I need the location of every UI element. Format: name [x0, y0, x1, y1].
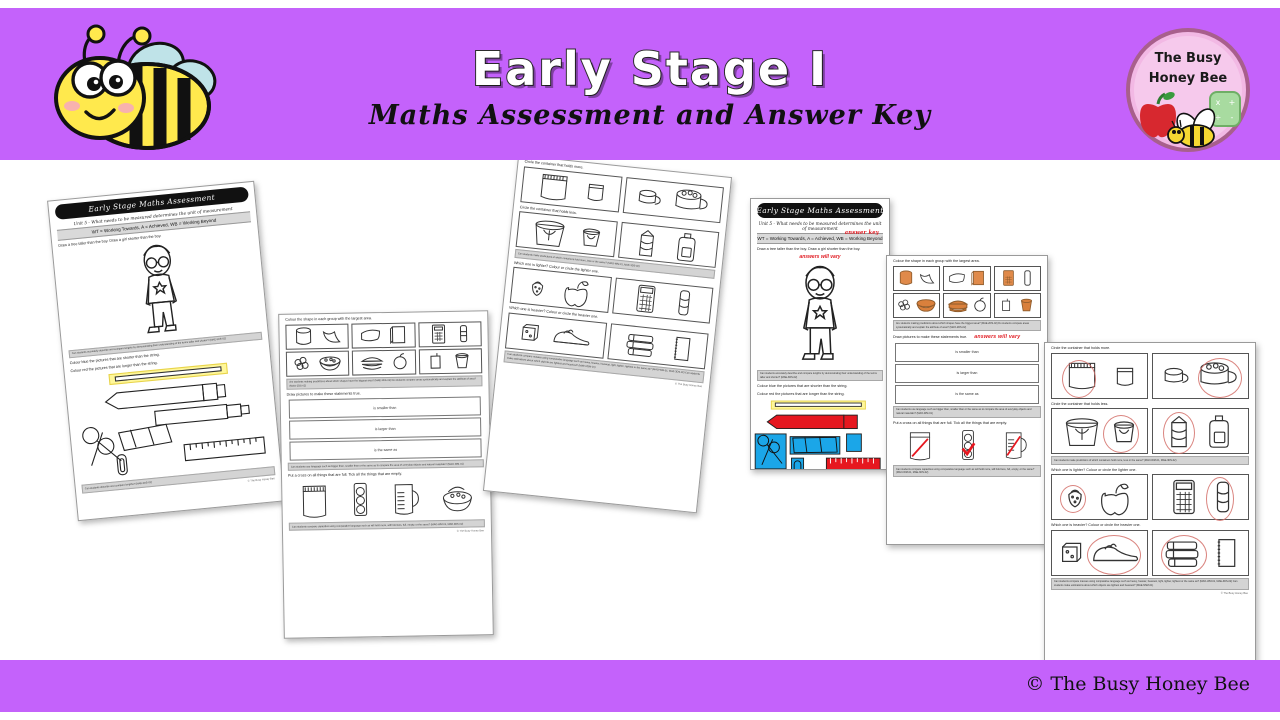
- copyright-text: © The Busy Honey Bee: [1025, 673, 1250, 695]
- juice-box-icon: [1001, 297, 1012, 313]
- logo-line2: Honey Bee: [1149, 71, 1228, 86]
- answer-key-page-1[interactable]: Early Stage Maths Assessment Unit 5 - Wh…: [750, 198, 890, 470]
- small-tub-icon: [579, 225, 603, 249]
- pillow-icon: [948, 269, 966, 287]
- large-mug-icon: [673, 185, 710, 218]
- jar-icon[interactable]: [298, 480, 331, 521]
- area-grid-row1: [285, 321, 481, 349]
- calculator-icon: [633, 283, 658, 315]
- criteria-1: Can students accurately describe and com…: [757, 370, 883, 382]
- crayon-icon-red: [767, 415, 857, 428]
- bucket-icon: [453, 352, 471, 370]
- criteria-4: Can students use language such as bigger…: [288, 459, 484, 471]
- page-title: Early Stage I: [472, 45, 828, 93]
- poster-canvas: Early Stage I Maths Assessment and Answe…: [0, 0, 1280, 720]
- popcorn-icon: [897, 297, 912, 313]
- area-cell[interactable]: [285, 323, 349, 349]
- measuring-jug-icon[interactable]: [390, 478, 421, 519]
- pen-icon-blue: [847, 434, 862, 451]
- criteria-5: Can students compare capacities using co…: [893, 465, 1041, 477]
- sheet-banner: Early Stage Maths Assessment: [757, 203, 883, 218]
- area-cell[interactable]: [418, 348, 482, 374]
- holds-less-pair[interactable]: [1051, 408, 1148, 454]
- criteria-7: Can students compare masses using compar…: [1051, 578, 1249, 590]
- criteria-3: Are students making predictions about wh…: [893, 320, 1041, 332]
- answer-key-page-2[interactable]: Colour the shape in each group with the …: [886, 255, 1048, 545]
- small-mug-icon: [1163, 364, 1189, 388]
- tube-icon-ticked[interactable]: [959, 427, 977, 463]
- holds-more-pair[interactable]: [520, 166, 622, 212]
- area-cell[interactable]: [286, 350, 350, 376]
- cereal-bowl-icon-coloured: [915, 297, 937, 313]
- criteria-6: Can students make predictions of which c…: [1051, 456, 1249, 464]
- tube-icon[interactable]: [350, 479, 371, 519]
- unit-line: Unit 5 - What needs to be measured deter…: [757, 220, 883, 233]
- shoe-icon: [551, 323, 593, 351]
- milk-jug-icon: [1204, 413, 1234, 449]
- criteria-3: Are students making predictions about wh…: [286, 375, 482, 390]
- answer-circle: [1198, 358, 1242, 398]
- worksheet-page-2[interactable]: Colour the shape in each group with the …: [278, 310, 494, 639]
- area-cell[interactable]: [943, 266, 990, 291]
- statement-smaller[interactable]: is smaller than: [895, 343, 1039, 362]
- pen-icon: [155, 403, 250, 426]
- statement-smaller[interactable]: is smaller than: [289, 396, 481, 418]
- worksheet-page-1[interactable]: Early Stage Maths Assessment Unit 5 - Wh…: [47, 181, 285, 521]
- apple-icon: [1098, 479, 1134, 515]
- cereal-bowl-icon: [318, 354, 342, 372]
- milk-jug-icon: [672, 231, 701, 264]
- question-7: Circle the container that holds less.: [1051, 402, 1249, 407]
- boy-figure-icon: [792, 263, 848, 367]
- statement-same[interactable]: is the same as: [895, 385, 1039, 404]
- worksheet-page-3[interactable]: Circle the container that holds more. Ci…: [483, 160, 732, 513]
- page-subtitle: Maths Assessment and Answer Key: [369, 100, 931, 131]
- area-cell[interactable]: [994, 266, 1041, 291]
- statement-larger[interactable]: is larger than: [289, 417, 481, 439]
- header-banner: Early Stage I Maths Assessment and Answe…: [0, 8, 1280, 160]
- boy-figure-icon: [130, 240, 191, 341]
- area-cell[interactable]: [352, 322, 416, 348]
- notebook-icon: [669, 334, 692, 364]
- area-cell[interactable]: [893, 293, 940, 318]
- statement-larger[interactable]: is larger than: [895, 364, 1039, 383]
- ruler-icon-red: [826, 458, 880, 470]
- area-cell[interactable]: [418, 321, 482, 347]
- footer-banner: © The Busy Honey Bee: [0, 660, 1280, 712]
- logo-badge: The Busy Honey Bee x+ ÷-: [1124, 26, 1252, 154]
- question-4-text: Draw pictures to make these statements t…: [893, 335, 967, 339]
- lighter-grid-answers: [1051, 474, 1249, 520]
- holds-more-pair[interactable]: [622, 177, 724, 223]
- statement-label: is smaller than: [373, 405, 396, 409]
- cup-icon-coloured: [897, 269, 915, 287]
- lighter-pair[interactable]: [1051, 474, 1148, 520]
- small-jar-icon: [584, 180, 608, 204]
- length-items-answers: [751, 399, 883, 470]
- criteria-4: Can students use language such as bigger…: [893, 406, 1041, 418]
- dice-icon: [1059, 541, 1083, 565]
- holds-less-pair[interactable]: [1152, 408, 1249, 454]
- ruler-icon: [184, 437, 265, 461]
- orange-icon: [391, 353, 407, 371]
- answer-circle: [1087, 535, 1141, 575]
- lighter-pair[interactable]: [612, 278, 714, 324]
- statement-label: is larger than: [957, 371, 978, 375]
- statement-same[interactable]: is the same as: [289, 438, 481, 460]
- dice-icon: [519, 322, 541, 344]
- bee-icon: [52, 24, 227, 154]
- banner-title: Early Stage Maths Assessment: [756, 206, 883, 215]
- lighter-pair[interactable]: [510, 267, 612, 313]
- banana-icon: [918, 269, 936, 287]
- notebook-icon: [1212, 536, 1238, 570]
- bucket-icon-coloured: [1019, 297, 1034, 313]
- popcorn-icon: [293, 354, 311, 372]
- strawberry-icon: [528, 278, 546, 298]
- area-cell[interactable]: [943, 293, 990, 318]
- answer-circle: [1103, 415, 1139, 453]
- answer-circle: [1161, 535, 1207, 575]
- large-tub-icon: [530, 216, 569, 250]
- calculator-icon: [431, 324, 447, 344]
- holds-more-grid-answers: [1051, 353, 1249, 399]
- svg-text:-: -: [1231, 113, 1234, 122]
- area-grid-row2: [286, 348, 482, 376]
- question-2b: Colour red the pictures that are longer …: [757, 392, 883, 397]
- area-cell[interactable]: [352, 349, 416, 375]
- question-9: Which one is heavier? Colour or circle t…: [1051, 523, 1249, 528]
- svg-text:÷: ÷: [1215, 113, 1222, 122]
- calculator-icon-coloured: [1002, 269, 1015, 287]
- jar-icon-crossed[interactable]: [906, 427, 934, 463]
- scissors-icon-blue: [755, 434, 786, 469]
- books-icon: [624, 329, 657, 360]
- statement-label: is smaller than: [955, 350, 978, 354]
- svg-text:+: +: [1229, 98, 1236, 107]
- holds-more-pair[interactable]: [1152, 353, 1249, 399]
- answer-circle: [1060, 485, 1086, 513]
- holds-less-grid-answers: [1051, 408, 1249, 454]
- answer-circle: [1206, 477, 1234, 521]
- heavier-pair[interactable]: [1051, 530, 1148, 576]
- cup-icon: [292, 326, 314, 346]
- question-8: Which one is lighter? Colour or circle t…: [1051, 468, 1249, 473]
- pillow-icon: [360, 325, 382, 345]
- answer-key-page-3[interactable]: Circle the container that holds more. Ci…: [1044, 342, 1256, 660]
- paperclip-icon: [117, 455, 128, 476]
- small-jar-icon: [1113, 364, 1137, 388]
- tape-icon-blue: [790, 436, 840, 453]
- book-icon-coloured: [971, 269, 986, 287]
- sheet-footer: © The Busy Honey Bee: [1052, 592, 1248, 595]
- statement-label: is the same as: [374, 447, 397, 451]
- question-4: Draw pictures to make these statements t…: [893, 334, 1041, 341]
- question-5: Put a cross on all things that are full.…: [893, 421, 1041, 426]
- capacity-row-answers: [893, 427, 1041, 463]
- lighter-pair[interactable]: [1152, 474, 1249, 520]
- holds-more-pair[interactable]: [1051, 353, 1148, 399]
- burger-icon: [360, 353, 384, 371]
- statement-label: is the same as: [955, 392, 978, 396]
- question-6: Circle the container that holds more.: [1051, 346, 1249, 351]
- logo-line1: The Busy: [1155, 51, 1222, 66]
- jar-icon: [534, 170, 575, 204]
- area-grid-row1-answers: [893, 266, 1041, 291]
- answer-circle: [1062, 360, 1096, 398]
- paperclip-icon-blue: [791, 458, 803, 470]
- eraser-icon: [459, 324, 469, 344]
- measuring-jug-icon-crossed[interactable]: [1002, 427, 1028, 463]
- heavier-grid-answers: [1051, 530, 1249, 576]
- calculator-icon: [1170, 478, 1198, 516]
- sheet-footer: © The Busy Honey Bee: [290, 530, 484, 536]
- question-1: Draw a tree taller than the boy. Draw a …: [757, 247, 883, 252]
- answers-vary-label: answers will vary: [751, 254, 889, 260]
- answer-key-label: answer key: [845, 230, 879, 236]
- question-2a: Colour blue the pictures that are shorte…: [757, 384, 883, 389]
- area-cell[interactable]: [893, 266, 940, 291]
- capacity-row: [288, 477, 485, 520]
- answers-vary-label: answers will vary: [974, 334, 1020, 340]
- question-3: Colour the shape in each group with the …: [893, 259, 1041, 264]
- milk-carton-icon: [636, 227, 659, 259]
- book-icon: [389, 325, 407, 345]
- worksheet-collage: Early Stage Maths Assessment Unit 5 - Wh…: [0, 160, 1280, 660]
- eraser-icon: [1023, 269, 1032, 287]
- large-tub-icon: [1062, 414, 1102, 448]
- eraser-icon: [676, 287, 692, 318]
- juice-box-icon: [429, 352, 443, 370]
- svg-text:x: x: [1216, 98, 1221, 107]
- apple-icon: [560, 275, 593, 308]
- burger-icon-coloured: [947, 297, 969, 313]
- orange-icon: [973, 297, 987, 313]
- heavier-pair[interactable]: [1152, 530, 1249, 576]
- small-mug-icon: [637, 185, 663, 209]
- scissors-icon: [82, 425, 121, 466]
- cereal-bowl-icon[interactable]: [440, 477, 475, 518]
- area-grid-row2-answers: [893, 293, 1041, 318]
- area-cell[interactable]: [994, 293, 1041, 318]
- title-block: Early Stage I Maths Assessment and Answe…: [240, 18, 1060, 158]
- answer-circle: [1163, 412, 1195, 454]
- banana-icon: [320, 326, 342, 346]
- length-items-group: [65, 357, 270, 483]
- tape-icon: [118, 424, 172, 451]
- statement-label: is larger than: [375, 426, 396, 430]
